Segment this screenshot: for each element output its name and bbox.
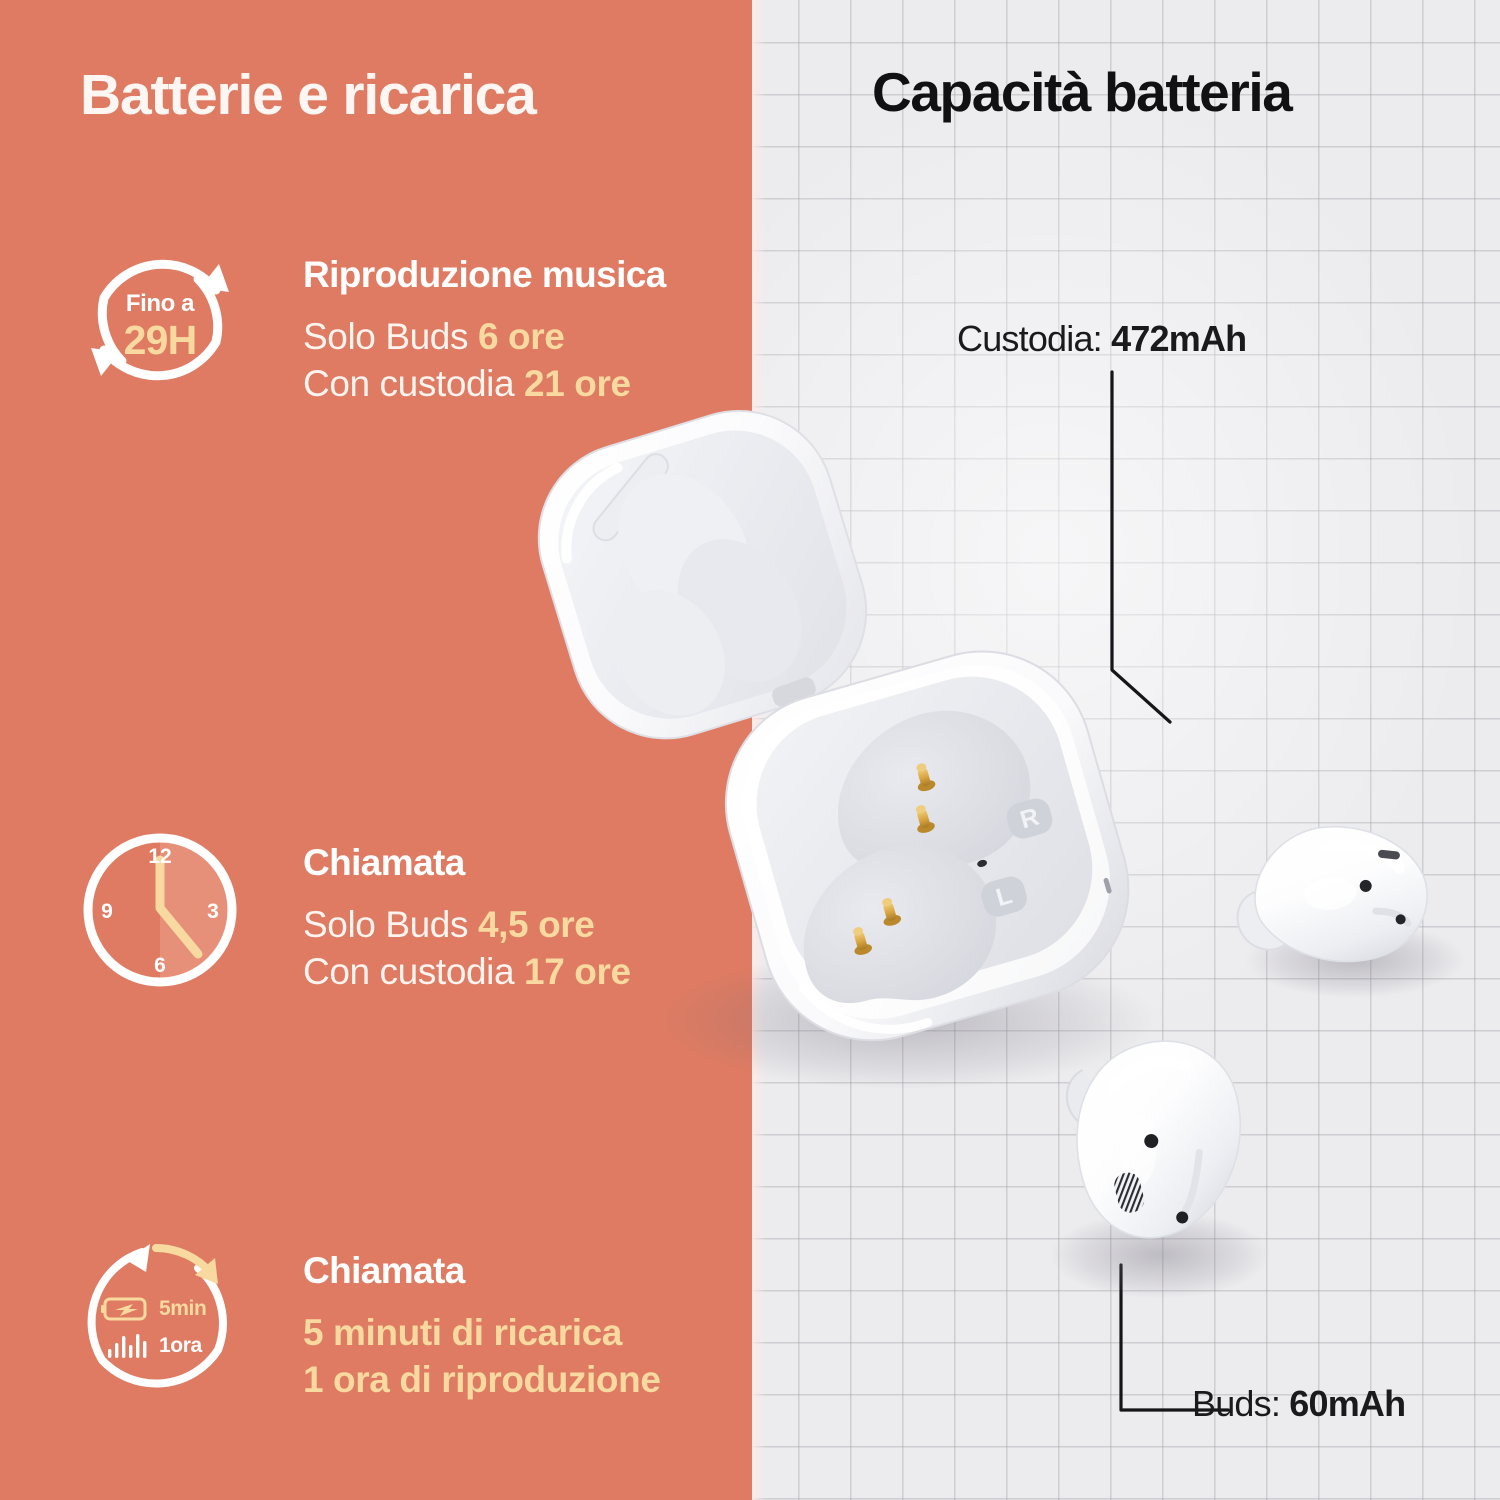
battery-charge-row: 5min [100,1296,206,1322]
playback-row: 1ora [106,1332,202,1360]
feature-line-value: 4,5 ore [478,904,595,945]
battery-charge-text: 5min [159,1297,206,1321]
callout-case-value: 472mAh [1111,318,1246,359]
infographic-page: Batterie e ricarica Fino a 29H Riproduzi… [0,0,1500,1500]
feature-fast-charge-text: Chiamata 5 minuti di ricarica 1 ora di r… [303,1250,661,1403]
feature-line: Solo Buds 6 ore [303,313,666,360]
feature-title: Chiamata [303,1250,661,1293]
feature-line-value: 21 ore [524,363,631,404]
playback-text: 1ora [159,1334,202,1358]
callout-buds-value: 60mAh [1289,1383,1405,1424]
right-panel-title: Capacità batteria [872,60,1291,124]
svg-text:6: 6 [154,954,166,977]
feature-line-label: Solo Buds [303,904,478,945]
audio-bars-icon [106,1332,152,1360]
fast-charge-icon: 5min 1ora [78,1238,242,1402]
battery-bolt-icon [100,1296,152,1322]
clock-icon: 12 3 6 9 [78,828,242,992]
panel-divider [752,0,766,1500]
feature-title: Chiamata [303,842,631,885]
feature-line-label: Solo Buds [303,316,478,357]
feature-playback-text: Riproduzione musica Solo Buds 6 ore Con … [303,254,666,407]
left-panel-title: Batterie e ricarica [80,62,536,128]
circle-icon-caption: Fino a [78,290,242,318]
feature-line: Con custodia 21 ore [303,360,666,407]
feature-line: Con custodia 17 ore [303,948,631,995]
svg-text:12: 12 [148,845,171,868]
feature-line-label: Con custodia [303,951,524,992]
callout-buds-label: Buds: [1192,1383,1289,1424]
callout-buds: Buds: 60mAh [1192,1383,1405,1425]
callout-case-label: Custodia: [957,318,1111,359]
circle-icon-value: 29H [78,317,242,364]
svg-text:9: 9 [101,900,113,923]
feature-line: 1 ora di riproduzione [303,1356,661,1403]
svg-text:3: 3 [207,900,219,923]
feature-line-label: Con custodia [303,363,524,404]
feature-title: Riproduzione musica [303,254,666,297]
feature-line: 5 minuti di ricarica [303,1309,661,1356]
case-leader-line [1110,370,1230,730]
feature-line-value: 6 ore [478,316,564,357]
feature-line-value: 17 ore [524,951,631,992]
left-panel: Batterie e ricarica Fino a 29H Riproduzi… [0,0,752,1500]
circular-arrows-icon: Fino a 29H [78,238,242,402]
callout-case: Custodia: 472mAh [957,318,1246,360]
feature-call-text: Chiamata Solo Buds 4,5 ore Con custodia … [303,842,631,995]
feature-line: Solo Buds 4,5 ore [303,901,631,948]
